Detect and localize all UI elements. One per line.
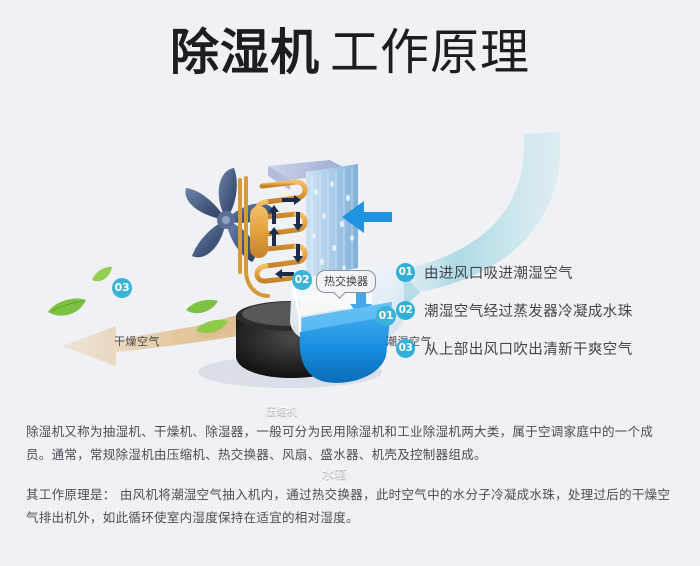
step-item: 02 潮湿空气经过蒸发器冷凝成水珠 [396,291,686,329]
step-text-01: 由进风口吸进潮湿空气 [424,262,573,283]
page-title-light: 工作原理 [330,24,530,81]
infographic-page: 除湿机工作原理 [0,0,700,566]
step-item: 01 由进风口吸进潮湿空气 [396,253,686,291]
page-title-strong: 除湿机 [170,24,320,81]
compressor-cylinder [250,206,268,258]
step-text-03: 从上部出风口吹出清新干爽空气 [424,338,633,359]
leaf-icon-group [48,267,228,333]
page-title: 除湿机工作原理 [0,28,700,77]
diagram-label-heat-exchanger: 热交换器 [316,270,376,293]
body-copy: 除湿机又称为抽湿机、干燥机、除湿器，一般可分为民用除湿机和工业除湿机两大类，属于… [26,420,676,529]
step-text-02: 潮湿空气经过蒸发器冷凝成水珠 [424,300,633,321]
diagram-badge-03: 03 [112,278,132,298]
step-badge-01: 01 [396,263,415,282]
diagram-badge-02: 02 [292,270,312,290]
body-paragraph-1: 除湿机又称为抽湿机、干燥机、除湿器，一般可分为民用除湿机和工业除湿机两大类，属于… [26,420,676,466]
step-badge-03: 03 [396,339,415,358]
steps-list: 01 由进风口吸进潮湿空气 02 潮湿空气经过蒸发器冷凝成水珠 03 从上部出风… [396,253,686,367]
step-item: 03 从上部出风口吹出清新干爽空气 [396,329,686,367]
step-badge-02: 02 [396,301,415,320]
diagram-badge-01: 01 [376,306,396,326]
diagram-label-compressor: 压缩机 [266,403,298,418]
body-paragraph-2: 其工作原理是： 由风机将潮湿空气抽入机内，通过热交换器，此时空气中的水分子冷凝成… [26,483,676,529]
diagram-label-dry-air: 干燥空气 [114,333,160,349]
